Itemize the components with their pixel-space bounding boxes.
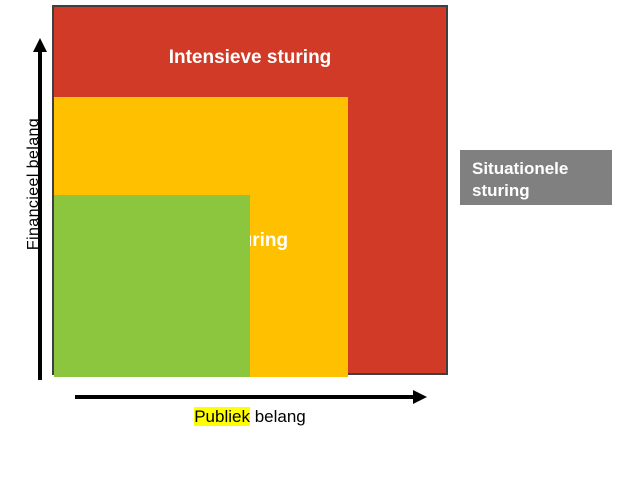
situationele-sturing-box: Situationele sturing — [460, 150, 612, 205]
x-axis-label: Publiek belang — [60, 407, 440, 427]
situationele-sturing-line1: Situationele — [472, 158, 612, 180]
x-axis-label-highlighted: Publiek — [194, 407, 250, 426]
y-axis-label: Financieel belang — [25, 84, 43, 284]
x-axis-label-plain: belang — [250, 407, 306, 426]
x-axis-shaft — [75, 395, 415, 399]
x-axis-arrow — [75, 390, 427, 404]
cell-label-intensieve-sturing: Intensieve sturing — [54, 47, 446, 69]
x-axis-arrowhead-icon — [413, 390, 427, 404]
situationele-sturing-line2: sturing — [472, 180, 612, 202]
matrix-band-reguliere: Reguliere sturing zienswijze gedelegeerd… — [54, 195, 250, 377]
governance-matrix: Intensieve sturing Uitgebreide sturing R… — [52, 5, 448, 375]
diagram-canvas: Financieel belang Intensieve sturing Uit… — [0, 0, 628, 439]
cell-label-reguliere-group: Reguliere sturing zienswijze gedelegeerd… — [54, 442, 250, 502]
cell-label-reguliere-sturing: Reguliere sturing — [54, 442, 250, 464]
cell-sublabel-reguliere-sturing: zienswijze gedelegeerd aan college — [54, 466, 250, 501]
